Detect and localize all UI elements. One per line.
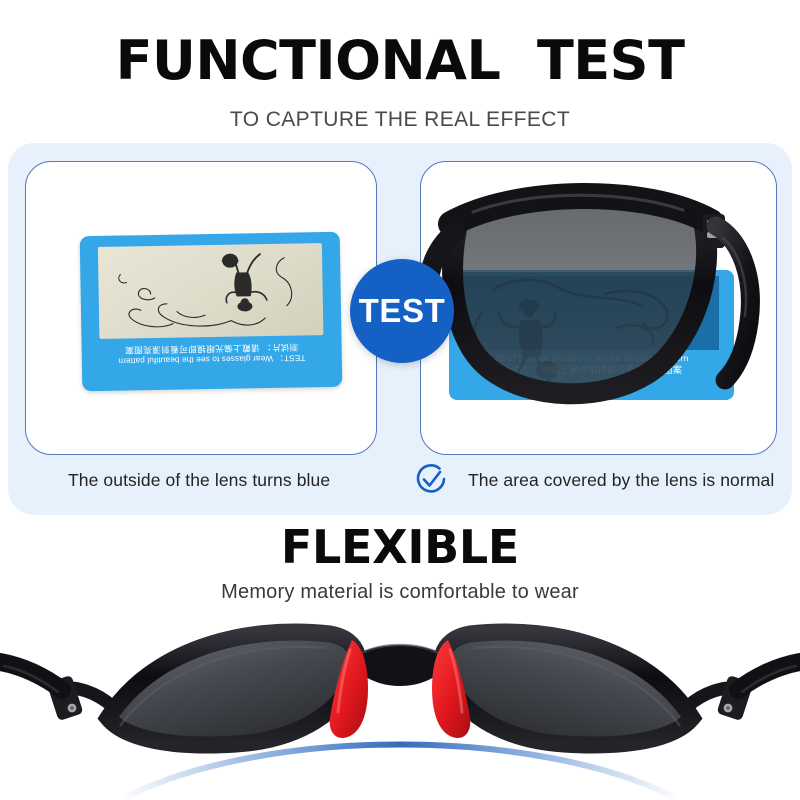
test-badge: TEST [350, 259, 454, 363]
caption-left: The outside of the lens turns blue [68, 470, 330, 491]
left-lens-assembly [108, 632, 358, 745]
page-subtitle: TO CAPTURE THE REAL EFFECT [0, 108, 800, 132]
polarized-test-card-uncovered: TEST： Wear glasses to see the beautiful … [80, 232, 343, 392]
right-lens-assembly [442, 632, 692, 745]
test-badge-label: TEST [359, 292, 446, 330]
fisherman-pattern-illustration [98, 243, 324, 339]
caption-right: The area covered by the lens is normal [468, 470, 774, 491]
sunglasses-top-view-photo [0, 600, 800, 800]
test-card-caption: TEST： Wear glasses to see the beautiful … [90, 340, 334, 367]
check-circle-icon [412, 460, 450, 498]
test-panel-right: TEST： Wear glasses to see the beautiful … [420, 161, 777, 455]
flexible-title: FLEXIBLE [0, 524, 800, 570]
page-title: FUNCTIONAL TEST [0, 34, 800, 88]
product-marketing-page: FUNCTIONAL TEST TO CAPTURE THE REAL EFFE… [0, 0, 800, 800]
test-card-pattern-area [98, 243, 324, 339]
sunglasses-front-view [420, 162, 777, 454]
test-panel-left: TEST： Wear glasses to see the beautiful … [25, 161, 377, 455]
